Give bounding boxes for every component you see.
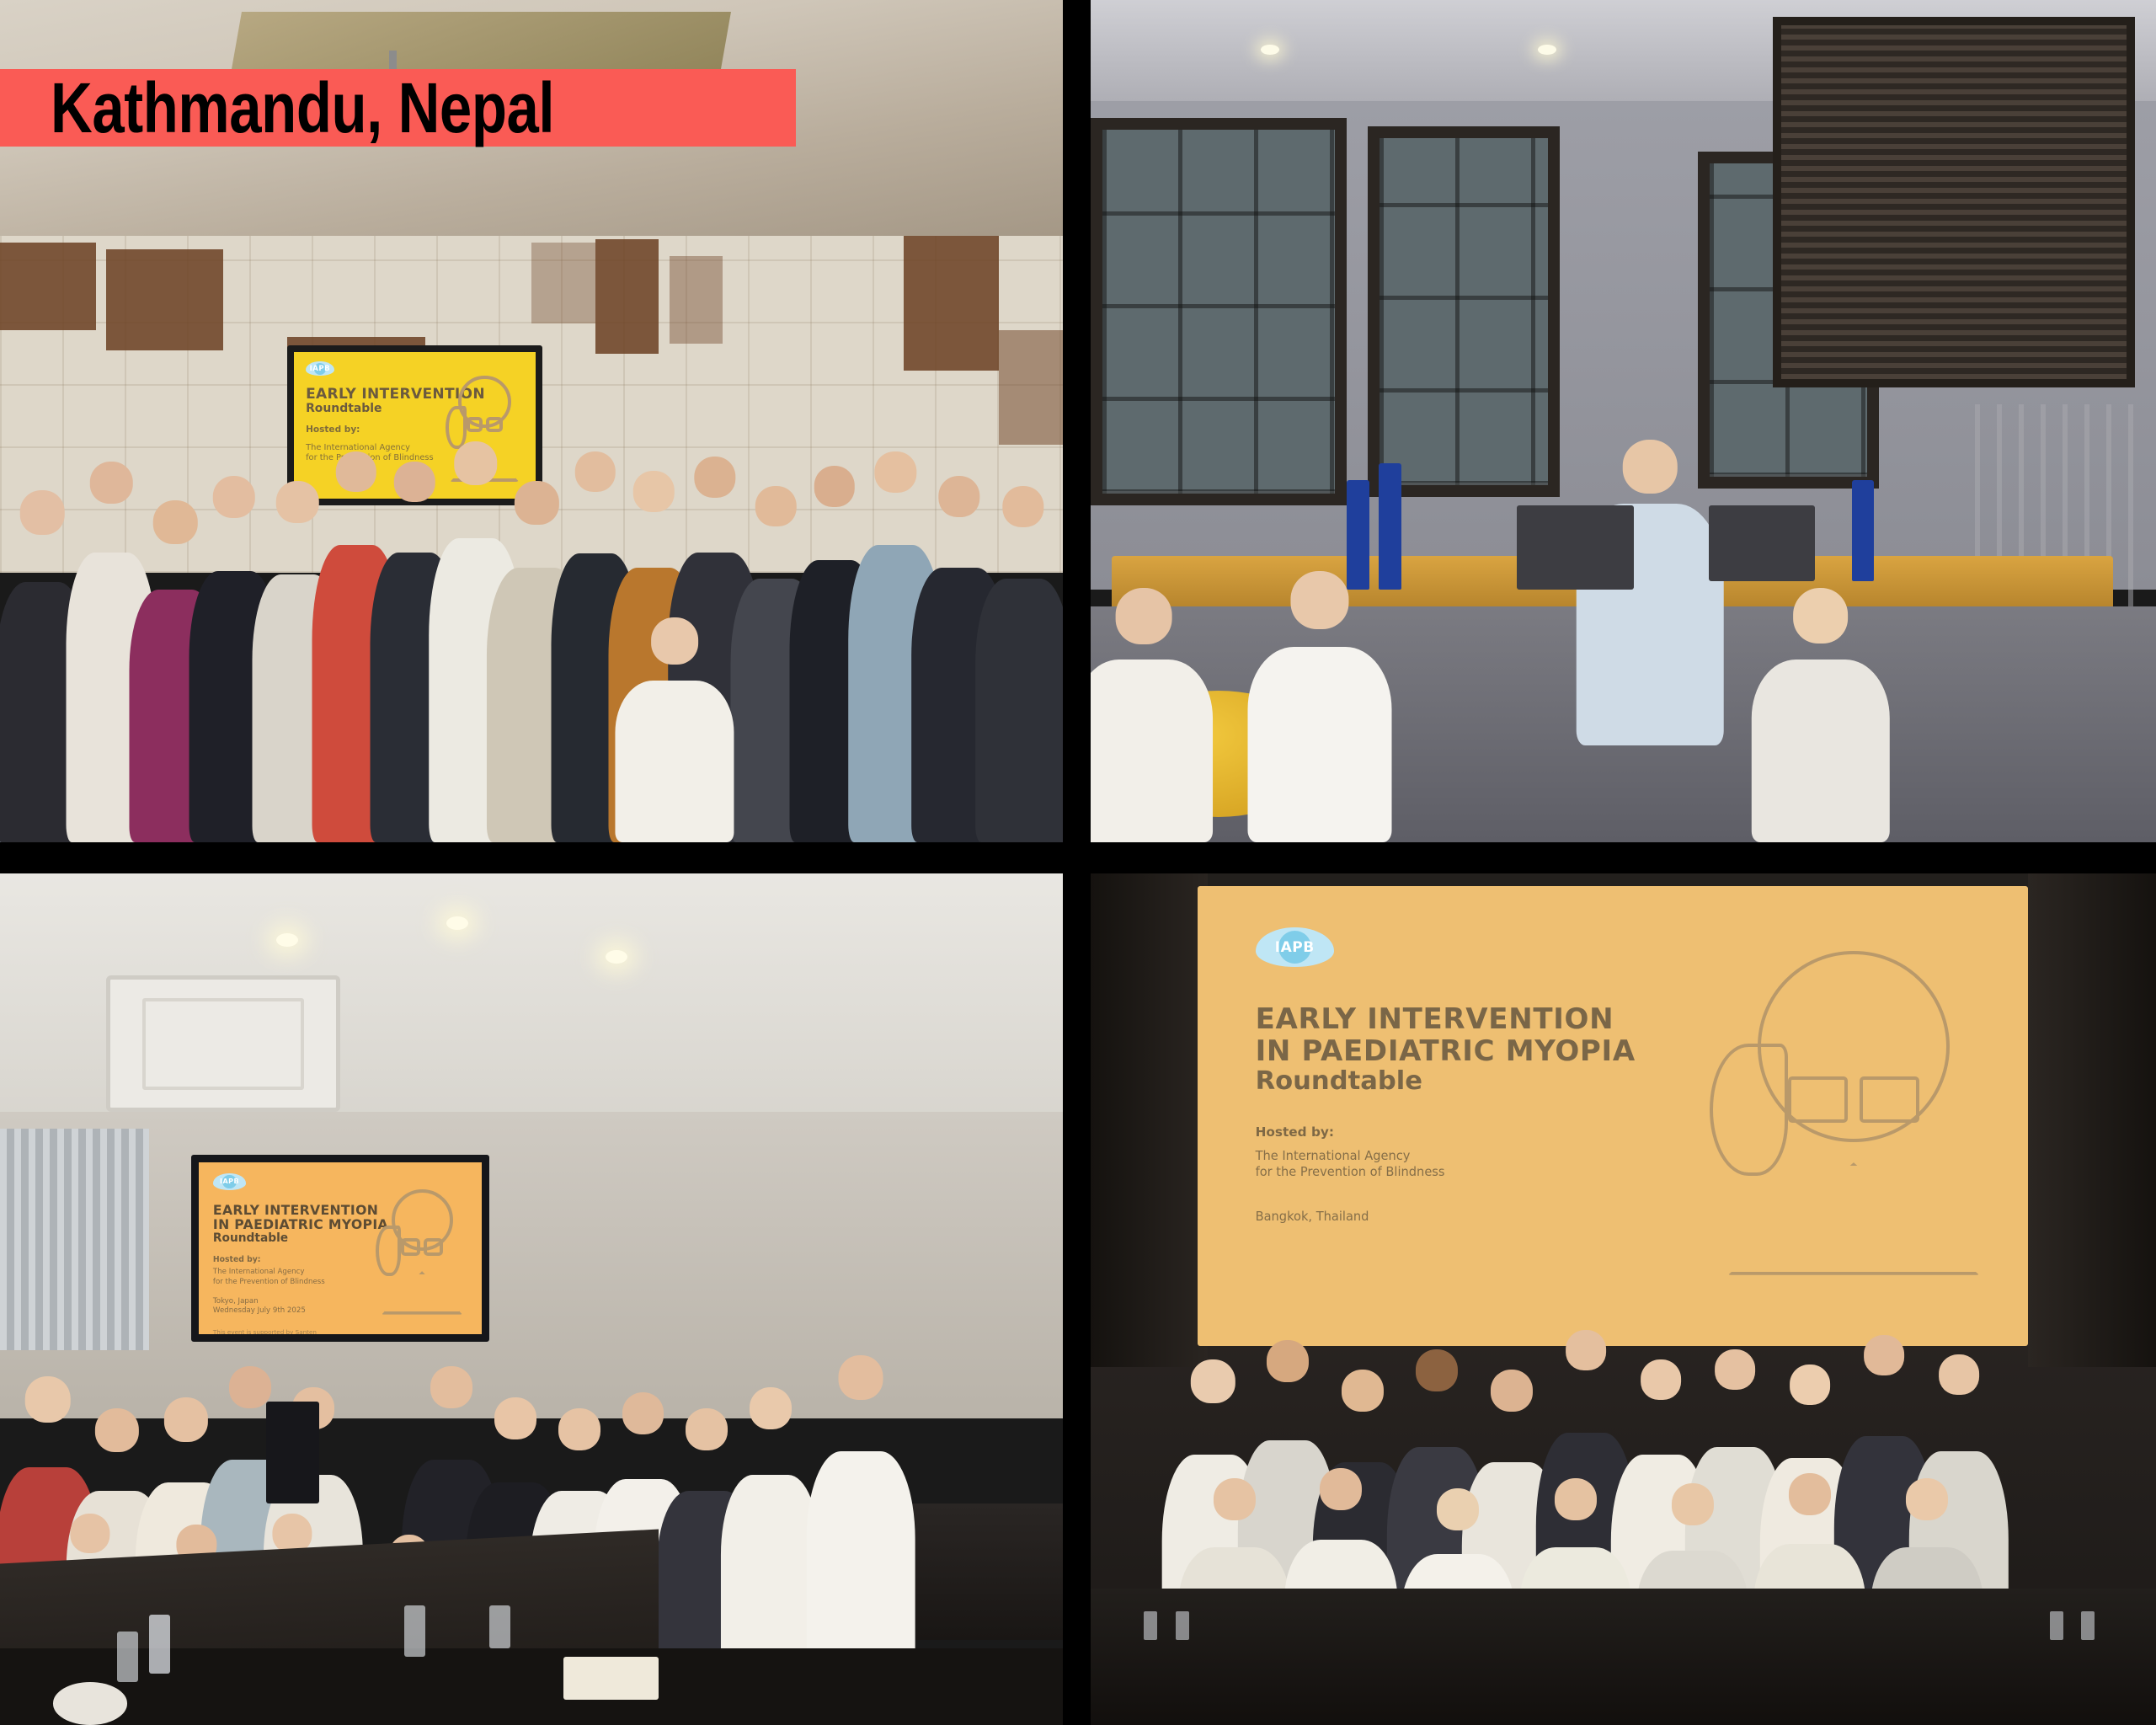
water-bottle xyxy=(1379,463,1402,590)
water-bottle xyxy=(149,1615,170,1674)
presenter xyxy=(1570,440,1730,842)
water-bottle xyxy=(117,1632,138,1683)
photo-collage: IAPB EARLY INTERVENTION Roundtable Hoste… xyxy=(0,0,2156,1725)
water-bottle xyxy=(404,1605,425,1657)
bangkok-photo: IAPB EARLY INTERVENTION IN PAEDIATRIC MY… xyxy=(1091,873,2156,1725)
glass xyxy=(1144,1611,1157,1640)
cup xyxy=(53,1682,127,1725)
air-conditioner xyxy=(106,975,340,1112)
photo-panel-bangkok[interactable]: IAPB EARLY INTERVENTION IN PAEDIATRIC MY… xyxy=(1091,873,2156,1725)
iapb-logo-text: IAPB xyxy=(220,1178,239,1185)
iapb-logo-icon: IAPB xyxy=(213,1173,246,1190)
tokyo-photo: IAPB EARLY INTERVENTION IN PAEDIATRIC MY… xyxy=(0,873,1063,1725)
glass xyxy=(1176,1611,1189,1640)
glass xyxy=(2081,1611,2095,1640)
water-bottle xyxy=(489,1605,510,1648)
madrid-photo xyxy=(1091,0,2156,842)
photo-panel-madrid[interactable]: Madrid, Spain xyxy=(1091,0,2156,842)
iapb-logo-icon: IAPB xyxy=(1256,927,1334,967)
round-table xyxy=(1091,1589,2156,1725)
glass xyxy=(2050,1611,2063,1640)
water-bottle xyxy=(1852,480,1873,581)
paper-document xyxy=(563,1657,659,1700)
location-label-kathmandu: Kathmandu, Nepal xyxy=(0,69,796,147)
group-of-attendees xyxy=(0,354,1063,842)
meeting-participants xyxy=(1091,404,2156,842)
photo-panel-kathmandu[interactable]: IAPB EARLY INTERVENTION Roundtable Hoste… xyxy=(0,0,1063,842)
window-blinds xyxy=(1773,17,2135,387)
laptop xyxy=(1709,505,1816,581)
photo-panel-tokyo[interactable]: IAPB EARLY INTERVENTION IN PAEDIATRIC MY… xyxy=(0,873,1063,1725)
iapb-logo-text: IAPB xyxy=(1275,939,1315,956)
speaker xyxy=(266,1402,319,1503)
water-bottle xyxy=(1347,480,1370,590)
location-label-kathmandu-text: Kathmandu, Nepal xyxy=(51,67,554,149)
iapb-logo-text: IAPB xyxy=(310,365,330,373)
laptop xyxy=(1517,505,1634,590)
